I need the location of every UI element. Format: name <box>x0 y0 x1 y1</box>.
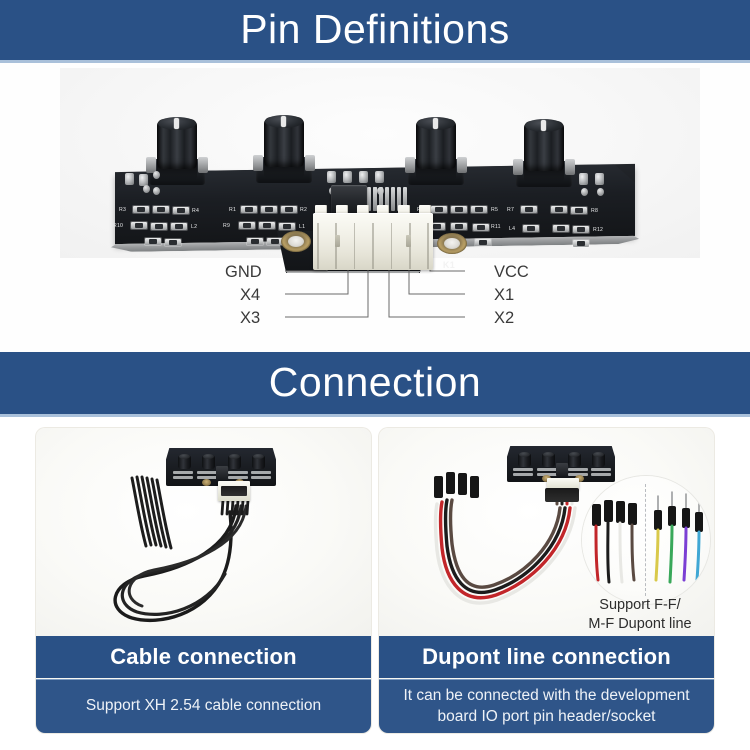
mini-silk <box>173 476 193 479</box>
pin-label-x4: X4 <box>240 287 260 304</box>
section-header-pin-definitions: Pin Definitions <box>0 0 750 60</box>
connector-ribs <box>317 223 429 269</box>
mini-silk <box>173 471 193 474</box>
mini-knob-4 <box>252 455 265 469</box>
xh-connector: K1 <box>313 205 433 270</box>
connector-latch-right <box>406 235 411 247</box>
bubble-caption-line-2: M-F Dupont line <box>574 615 706 634</box>
card-description-text: Support XH 2.54 cable connection <box>76 696 331 717</box>
mini-silk <box>537 468 557 471</box>
page-root: Pin Definitions <box>0 0 750 750</box>
mini-silk <box>568 468 588 471</box>
card-cable-connection[interactable]: Cable connection Support XH 2.54 cable c… <box>36 428 371 733</box>
cable-connection-photo <box>36 428 371 636</box>
header-underline-2 <box>0 414 750 417</box>
mini-ic-chip <box>556 463 568 476</box>
mini-silk <box>251 471 271 474</box>
pin-label-x2: X2 <box>494 310 514 327</box>
mini-knob-2 <box>542 453 555 467</box>
card-description-text: It can be connected with the development… <box>379 686 714 728</box>
bubble-dupont-wires <box>582 476 710 604</box>
mini-knob-1 <box>518 453 531 467</box>
card-caption-dupont: Dupont line connection <box>379 636 714 678</box>
section-title-connection: Connection <box>269 362 481 403</box>
card-description-dupont: It can be connected with the development… <box>379 679 714 733</box>
card-dupont-line-connection[interactable]: Support F-F/ M-F Dupont line Dupont line… <box>379 428 714 733</box>
mini-knob-1 <box>178 455 191 469</box>
mini-silk <box>197 471 217 474</box>
card-description-cable: Support XH 2.54 cable connection <box>36 679 371 733</box>
pin-label-gnd: GND <box>225 264 262 281</box>
connector-designator-label: K1 <box>443 260 455 270</box>
mini-cable-plug <box>221 486 247 496</box>
mini-mounting-hole-left <box>202 479 211 486</box>
mini-silk <box>228 471 248 474</box>
mini-knob-3 <box>568 453 581 467</box>
pin-label-vcc: VCC <box>494 264 529 281</box>
pin-definitions-figure: R3 R4 R10 L2 R1 R2 R9 L1 R6 <box>0 63 750 352</box>
mini-dupont-plug <box>545 488 579 502</box>
section-title-pin-definitions: Pin Definitions <box>240 9 510 50</box>
section-header-connection: Connection <box>0 352 750 414</box>
bubble-caption: Support F-F/ M-F Dupont line <box>574 596 706 634</box>
dupont-connection-photo: Support F-F/ M-F Dupont line <box>379 428 714 636</box>
mini-knob-2 <box>202 455 215 469</box>
mini-silk <box>513 473 533 476</box>
pin-label-x3: X3 <box>240 310 260 327</box>
connector-latch-left <box>335 235 340 247</box>
card-caption-text: Dupont line connection <box>422 644 671 670</box>
pin-label-x1: X1 <box>494 287 514 304</box>
zoom-bubble <box>582 476 710 604</box>
mini-silk <box>251 476 271 479</box>
mini-knob-3 <box>228 455 241 469</box>
mini-knob-4 <box>592 453 605 467</box>
mini-silk <box>591 468 611 471</box>
mini-ic-chip <box>216 466 228 480</box>
card-caption-text: Cable connection <box>110 644 297 670</box>
card-caption-cable: Cable connection <box>36 636 371 678</box>
mini-silk <box>513 468 533 471</box>
bubble-caption-line-1: Support F-F/ <box>574 596 706 615</box>
